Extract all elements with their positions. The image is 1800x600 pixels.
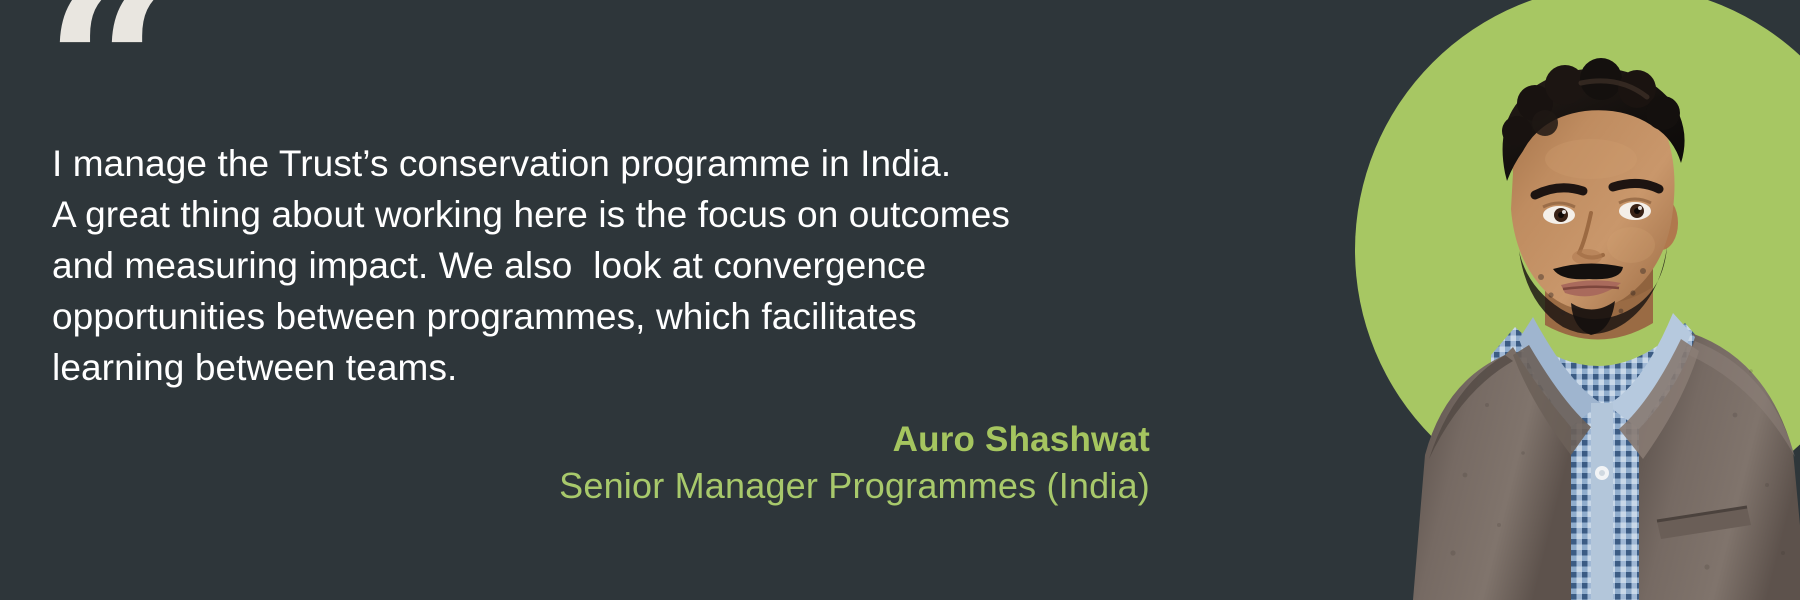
quote-line: learning between teams. [52, 342, 1172, 393]
attribution-role: Senior Manager Programmes (India) [250, 462, 1150, 510]
attribution-block: Auro Shashwat Senior Manager Programmes … [250, 418, 1150, 510]
testimonial-card: “ I manage the Trust’s conservation prog… [0, 0, 1800, 600]
quote-line: I manage the Trust’s conservation progra… [52, 138, 1172, 189]
quote-text-block: I manage the Trust’s conservation progra… [52, 138, 1172, 393]
quote-line: opportunities between programmes, which … [52, 291, 1172, 342]
quote-line: and measuring impact. We also look at co… [52, 240, 1172, 291]
quote-line: A great thing about working here is the … [52, 189, 1172, 240]
attribution-name: Auro Shashwat [250, 418, 1150, 462]
portrait-photo [1395, 55, 1800, 600]
